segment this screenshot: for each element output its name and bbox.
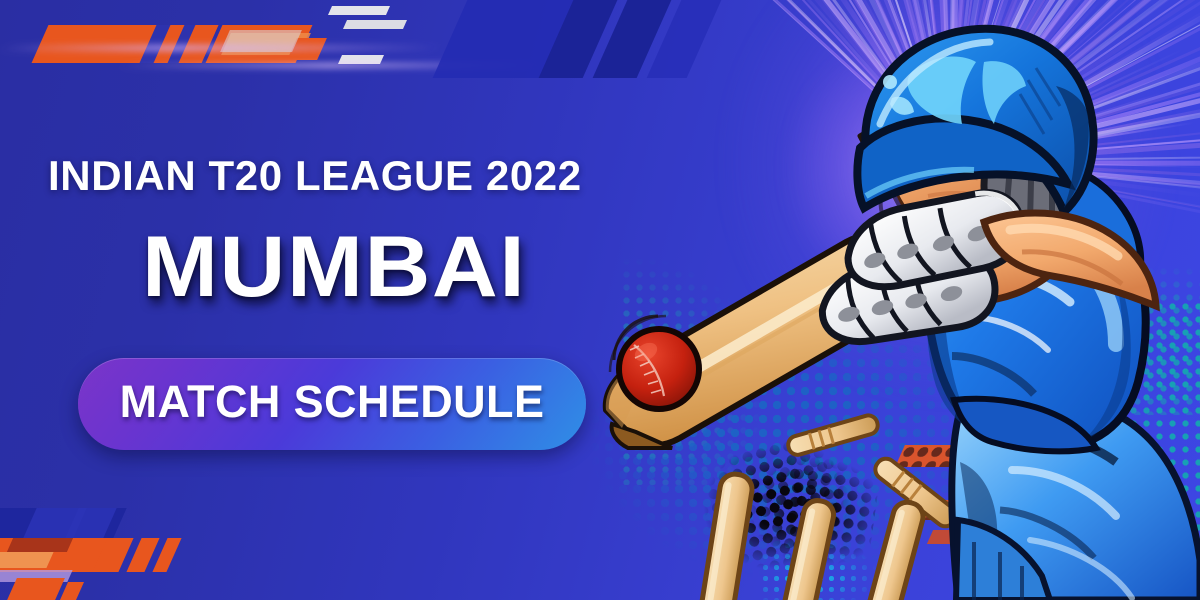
stumps-and-bails bbox=[691, 413, 960, 600]
league-kicker: INDIAN T20 LEAGUE 2022 bbox=[48, 155, 582, 197]
match-schedule-button[interactable]: MATCH SCHEDULE bbox=[78, 358, 586, 450]
city-title: MUMBAI bbox=[142, 224, 526, 310]
text-block: INDIAN T20 LEAGUE 2022 MUMBAI MATCH SCHE… bbox=[0, 0, 660, 600]
cricket-match-schedule-banner: INDIAN T20 LEAGUE 2022 MUMBAI MATCH SCHE… bbox=[0, 0, 1200, 600]
